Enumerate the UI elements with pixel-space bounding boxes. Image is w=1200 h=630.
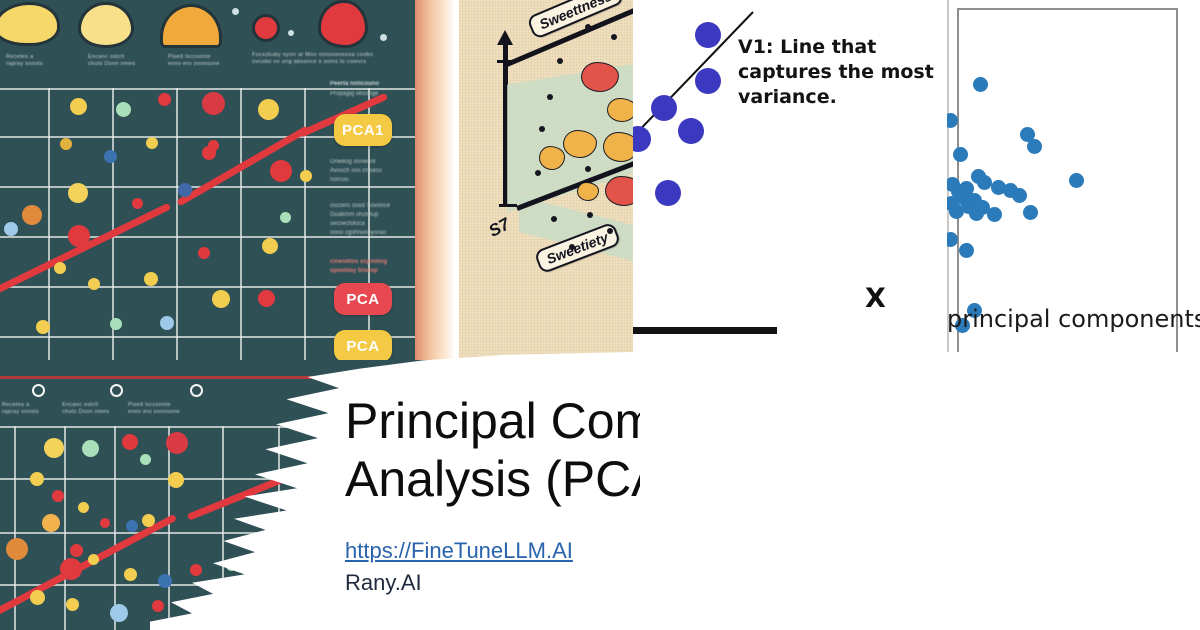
panel-v1-variance-line: V1: Line that captures the most variance… [633, 0, 947, 360]
axis-vertical-arrow [497, 30, 513, 45]
axis-tick-top [497, 60, 515, 63]
panel-sweetness-3d-axes: Sweettness Sweetiety S7 [459, 0, 633, 360]
data-point [1027, 139, 1042, 154]
infographic-tile-top: Recetes arapray sonsts Encanc ostchchuts… [0, 0, 455, 360]
site-link[interactable]: https://FineTuneLLM.AI [345, 538, 640, 564]
title-right-white-mask [640, 352, 1200, 630]
fruit-caption: Pised lsccsonteennv ero zoonsone [168, 54, 260, 68]
infographic-right-edge [415, 0, 455, 360]
data-point [973, 77, 988, 92]
data-point [977, 175, 992, 190]
data-point [1012, 188, 1027, 203]
title-block: Principal Component Analysis (PCA) https… [150, 352, 640, 630]
brand-label: Rany.AI [345, 570, 640, 596]
badge-pca-red: PCA [334, 283, 392, 315]
fruit-caption: Encanc ostchchuts Doon nmes [88, 54, 180, 68]
side-note: cineodtos xcpnotogspooblay bisoop [330, 258, 426, 276]
fruit-icon-cherry [252, 14, 280, 42]
data-point [959, 243, 974, 258]
data-point [695, 68, 721, 94]
food-nugget [603, 132, 633, 162]
food-nugget [607, 98, 633, 122]
page-title: Principal Component Analysis (PCA) [345, 392, 640, 508]
fruit-icon-lemon-slice [78, 2, 134, 48]
data-point [651, 95, 677, 121]
data-point [1023, 205, 1038, 220]
side-note: Propagig oksonge [330, 90, 426, 99]
page-title-line1: Principal Component [345, 393, 640, 449]
data-point [987, 207, 1002, 222]
badge-pca1: PCA1 [334, 114, 392, 146]
page-title-line2: Analysis (PCA) [345, 451, 640, 507]
v1-x-axis-label: X [865, 283, 886, 314]
axis-tick-bottom [499, 204, 517, 207]
data-point [678, 118, 704, 144]
data-point [1069, 173, 1084, 188]
data-point [695, 22, 721, 48]
scatter-annotation-text: principal components [947, 305, 1200, 333]
v1-caption-text: V1: Line that captures the most variance… [738, 35, 943, 110]
screenshot-collage: Recetes arapray sonsts Encanc ostchchuts… [0, 0, 1200, 630]
side-note: Onwilog osnwoolAvosch sos cneasonorcoo. [330, 158, 426, 185]
fruit-caption: Focxzkuby nyoir ar Moo osnsoonesoa coobo… [252, 52, 402, 66]
data-point [655, 180, 681, 206]
side-note: oscoinc ouvd SovonceGoak/nm shcintupsecs… [330, 202, 426, 238]
v1-x-axis-line [633, 327, 777, 334]
data-point [949, 204, 964, 219]
data-point [953, 147, 968, 162]
fruit-icon-mango [0, 2, 60, 46]
fruit-caption: Recetes arapray sonsts [6, 54, 98, 68]
side-note: Peerta noticouno [330, 80, 426, 89]
data-point [969, 206, 984, 221]
fruit-icon-pear [318, 0, 368, 48]
